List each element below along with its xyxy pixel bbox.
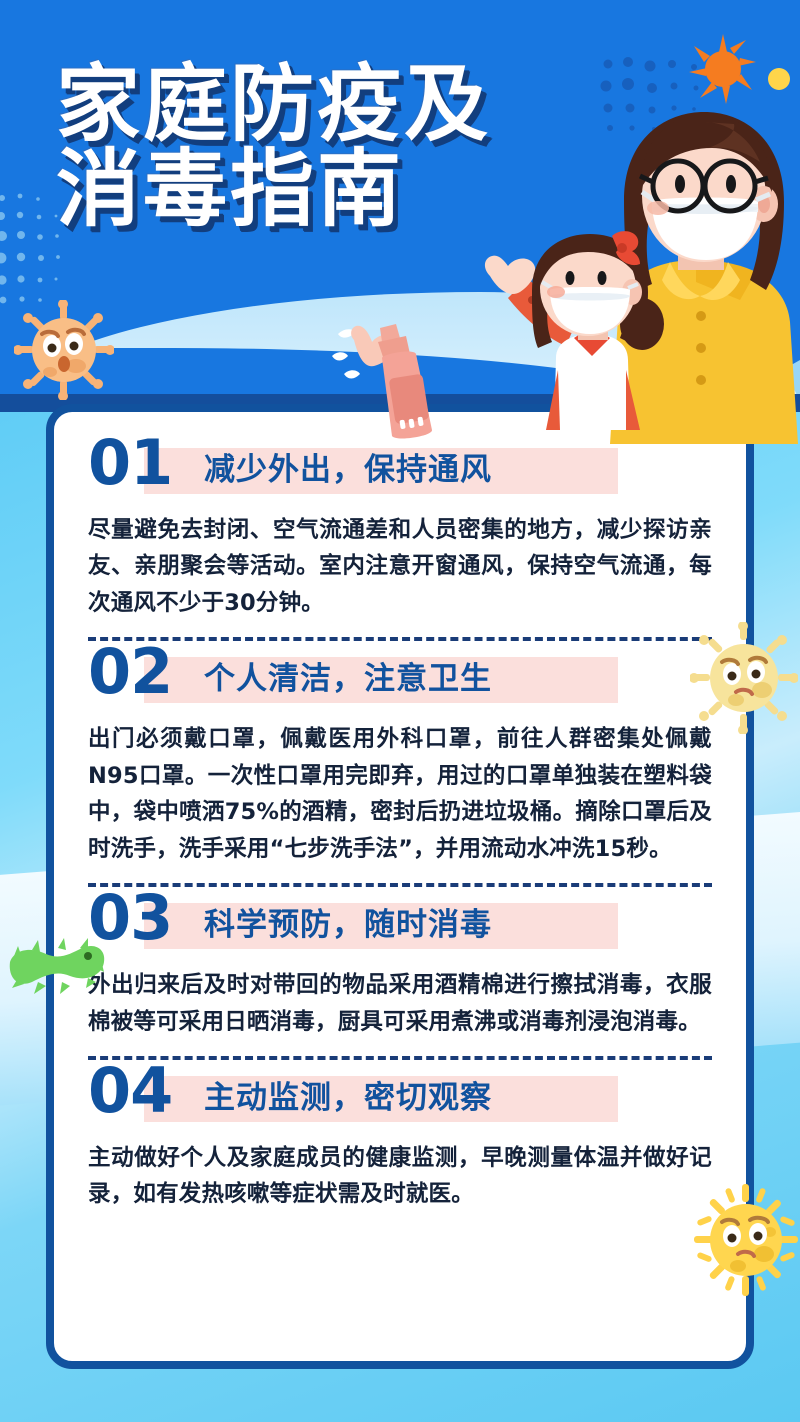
section-title: 减少外出，保持通风: [204, 452, 492, 489]
section-title: 科学预防，随时消毒: [204, 907, 492, 944]
guidelines-card: 01 减少外出，保持通风 尽量避免去封闭、空气流通差和人员密集的地方，减少探访亲…: [46, 404, 754, 1369]
yellow-dot-icon: [768, 68, 790, 90]
section-number: 02: [88, 641, 172, 703]
section-title: 个人清洁，注意卫生: [204, 661, 492, 698]
section-01: 01 减少外出，保持通风 尽量避免去封闭、空气流通差和人员密集的地方，减少探访亲…: [88, 436, 712, 621]
section-divider: [88, 1056, 712, 1060]
title-line-2: 消毒指南: [56, 149, 491, 230]
section-body: 出门必须戴口罩，佩戴医用外科口罩，前往人群密集处佩戴N95口罩。一次性口罩用完即…: [88, 721, 712, 867]
yellow-virus-icon: [694, 1184, 798, 1296]
section-header: 01 减少外出，保持通风: [88, 436, 712, 502]
section-body: 外出归来后及时对带回的物品采用酒精棉进行擦拭消毒，衣服棉被等可采用日晒消毒，厨具…: [88, 967, 712, 1040]
section-body: 主动做好个人及家庭成员的健康监测，早晚测量体温并做好记录，如有发热咳嗽等症状需及…: [88, 1140, 712, 1213]
section-header: 02 个人清洁，注意卫生: [88, 645, 712, 711]
section-02: 02 个人清洁，注意卫生 出门必须戴口罩，佩戴医用外科口罩，前往人群密集处佩戴N…: [88, 645, 712, 867]
title-line-1: 家庭防疫及: [56, 64, 491, 145]
section-03: 03 科学预防，随时消毒 外出归来后及时对带回的物品采用酒精棉进行擦拭消毒，衣服…: [88, 891, 712, 1040]
peach-virus-icon: [14, 300, 114, 400]
section-header: 04 主动监测，密切观察: [88, 1064, 712, 1130]
orange-virus-icon: [686, 32, 760, 106]
section-body: 尽量避免去封闭、空气流通差和人员密集的地方，减少探访亲友、亲朋聚会等活动。室内注…: [88, 512, 712, 621]
section-divider: [88, 637, 712, 641]
section-04: 04 主动监测，密切观察 主动做好个人及家庭成员的健康监测，早晚测量体温并做好记…: [88, 1064, 712, 1213]
cream-virus-icon: [690, 622, 798, 734]
section-divider: [88, 883, 712, 887]
section-number: 01: [88, 432, 172, 494]
section-title: 主动监测，密切观察: [204, 1080, 492, 1117]
poster-title: 家庭防疫及 消毒指南: [56, 64, 491, 229]
section-number: 04: [88, 1060, 172, 1122]
section-header: 03 科学预防，随时消毒: [88, 891, 712, 957]
spray-bottle-illustration: [330, 300, 450, 440]
poster-root: 家庭防疫及 消毒指南: [0, 0, 800, 1422]
green-bacterium-icon: [4, 936, 108, 998]
girl-with-mask-illustration: [470, 230, 700, 430]
